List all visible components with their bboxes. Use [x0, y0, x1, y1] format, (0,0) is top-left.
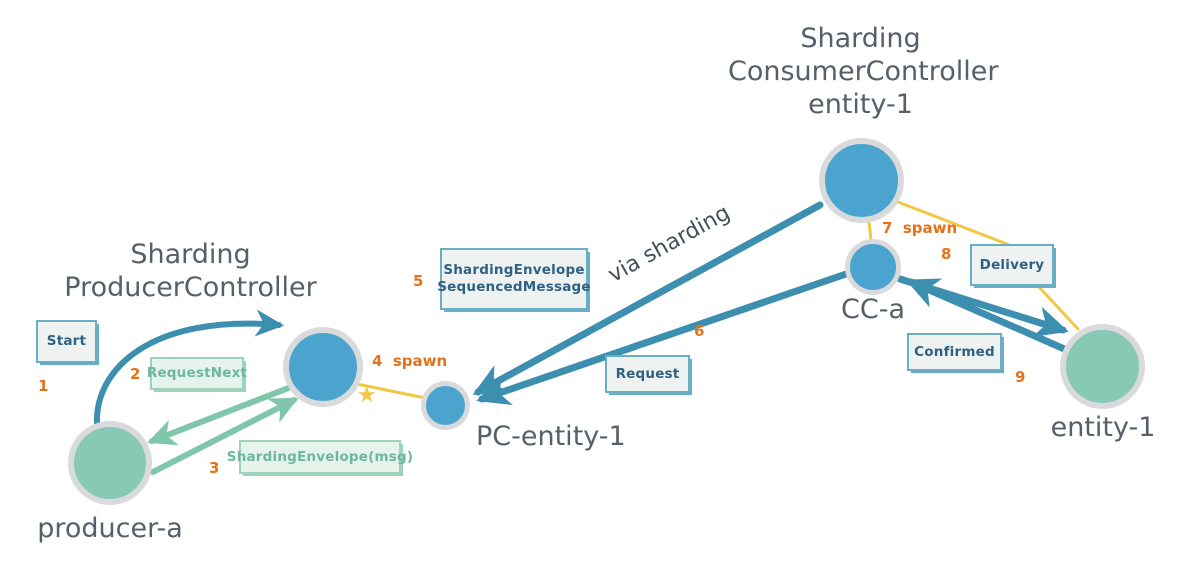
caption-pc-entity-1: PC-entity-1: [476, 420, 628, 453]
caption-cc-a: CC-a: [808, 293, 938, 326]
caption-sharding-producer-controller: Sharding ProducerController: [63, 238, 318, 304]
caption-entity-1: entity-1: [1027, 411, 1179, 444]
node-sharding-consumer-controller[interactable]: [819, 138, 904, 223]
edge-7-spawn: [869, 222, 871, 240]
step-number-4-spawn: 4 spawn: [372, 352, 447, 370]
node-pc-entity-1[interactable]: [421, 381, 470, 430]
message-box-sharding-envelope-msg[interactable]: ShardingEnvelope(msg): [239, 440, 401, 474]
step-number-9: 9: [1015, 368, 1025, 386]
step-number-5: 5: [413, 272, 423, 290]
node-entity-1[interactable]: [1060, 324, 1145, 409]
message-box-confirmed[interactable]: Confirmed: [907, 333, 1002, 371]
step-number-1: 1: [38, 377, 48, 395]
message-box-delivery[interactable]: Delivery: [970, 244, 1054, 286]
sharding-producer-controller-disc: [283, 327, 363, 407]
star-icon: ★: [357, 385, 377, 407]
node-cc-a[interactable]: [845, 239, 901, 295]
caption-producer-a: producer-a: [30, 512, 190, 545]
message-box-start[interactable]: Start: [36, 320, 97, 363]
diagram-canvas: Sharding ProducerController producer-a P…: [0, 0, 1196, 587]
sharding-consumer-controller-disc: [819, 138, 904, 223]
node-producer-a[interactable]: [68, 421, 152, 505]
step-number-2: 2: [130, 365, 140, 383]
caption-sharding-consumer-controller: Sharding ConsumerController entity-1: [728, 22, 993, 121]
pc-entity-1-disc: [421, 381, 470, 430]
cc-a-disc: [845, 239, 901, 295]
message-box-request[interactable]: Request: [605, 355, 690, 393]
producer-a-disc: [68, 421, 152, 505]
step-number-3: 3: [209, 459, 219, 477]
step-number-7-spawn: 7 spawn: [882, 219, 957, 237]
entity-1-disc: [1060, 324, 1145, 409]
node-sharding-producer-controller[interactable]: [283, 327, 363, 407]
step-number-8: 8: [941, 245, 951, 263]
step-number-6: 6: [694, 322, 704, 340]
message-box-request-next[interactable]: RequestNext: [150, 357, 244, 390]
message-box-sharding-envelope-sequenced-message[interactable]: ShardingEnvelope SequencedMessage: [440, 248, 588, 310]
